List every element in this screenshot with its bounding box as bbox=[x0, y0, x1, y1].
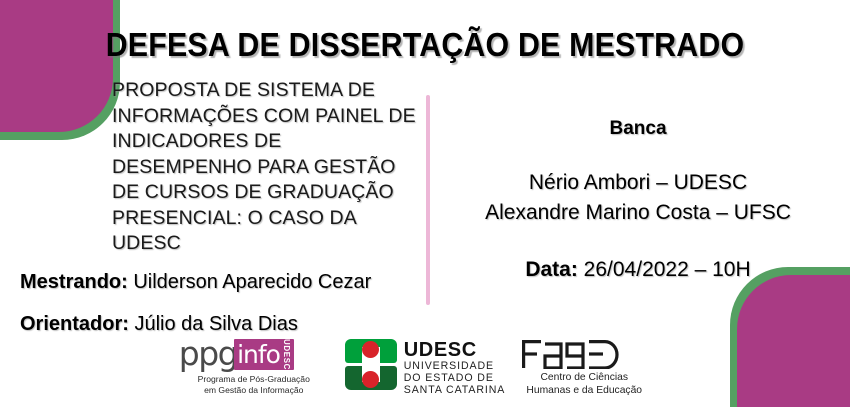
udesc-emblem-icon bbox=[345, 339, 397, 391]
ppg-lettering: ppg bbox=[179, 339, 237, 369]
banca-member-list: Nério Ambori – UDESC Alexandre Marino Co… bbox=[432, 168, 844, 228]
banca-heading: Banca bbox=[432, 118, 844, 140]
ppginfo-subtitle-line-2: em Gestão da Informação bbox=[179, 385, 329, 396]
date-value: 26/04/2022 – 10H bbox=[578, 258, 751, 281]
mestrando-name: Uilderson Aparecido Cezar bbox=[128, 271, 371, 293]
date-line: Data: 26/04/2022 – 10H bbox=[432, 258, 844, 282]
ppginfo-udesc-tag: UDESC bbox=[282, 339, 290, 370]
banca-member: Nério Ambori – UDESC bbox=[432, 168, 844, 198]
orientador-name: Júlio da Silva Dias bbox=[129, 313, 298, 335]
faed-subtitle: Centro de Ciências Humanas e da Educação bbox=[521, 372, 647, 397]
banca-member: Alexandre Marino Costa – UFSC bbox=[432, 198, 844, 228]
faed-logo: Centro de Ciências Humanas e da Educação bbox=[521, 335, 671, 397]
udesc-red-dot-top bbox=[362, 341, 379, 358]
ppginfo-logo: ppg info UDESC Programa de Pós-Graduação… bbox=[179, 335, 329, 399]
udesc-red-dot-bottom bbox=[362, 371, 379, 388]
right-column: Banca Nério Ambori – UDESC Alexandre Mar… bbox=[432, 118, 844, 282]
info-badge: info UDESC bbox=[234, 339, 294, 370]
mestrando-line: Mestrando: Uilderson Aparecido Cezar bbox=[20, 269, 420, 296]
date-label: Data: bbox=[525, 258, 578, 281]
udesc-sub-line-2: DO ESTADO DE bbox=[404, 372, 505, 384]
orientador-label: Orientador: bbox=[20, 313, 129, 335]
logo-strip: ppg info UDESC Programa de Pós-Graduação… bbox=[0, 335, 850, 401]
ppginfo-subtitle-line-1: Programa de Pós-Graduação bbox=[179, 374, 329, 385]
thesis-title: PROPOSTA DE SISTEMA DE INFORMAÇÕES COM P… bbox=[112, 78, 420, 257]
ppginfo-wordmark: ppg info UDESC bbox=[179, 337, 329, 371]
udesc-sub-line-3: SANTA CATARINA bbox=[404, 384, 505, 396]
udesc-name: UDESC bbox=[404, 340, 505, 360]
udesc-wordmark: UDESC UNIVERSIDADE DO ESTADO DE SANTA CA… bbox=[404, 339, 505, 397]
udesc-logo: UDESC UNIVERSIDADE DO ESTADO DE SANTA CA… bbox=[345, 335, 505, 397]
info-lettering: info bbox=[237, 342, 280, 367]
faed-wordmark-icon bbox=[521, 339, 647, 369]
presentation-slide: DEFESA DE DISSERTAÇÃO DE MESTRADO PROPOS… bbox=[0, 0, 850, 407]
udesc-sub-line-1: UNIVERSIDADE bbox=[404, 360, 505, 372]
mestrando-label: Mestrando: bbox=[20, 271, 128, 293]
column-divider bbox=[426, 95, 430, 305]
ppginfo-subtitle: Programa de Pós-Graduação em Gestão da I… bbox=[179, 374, 329, 395]
left-column: PROPOSTA DE SISTEMA DE INFORMAÇÕES COM P… bbox=[20, 78, 420, 338]
faed-subtitle-line-1: Centro de Ciências bbox=[521, 372, 647, 385]
faed-subtitle-line-2: Humanas e da Educação bbox=[521, 385, 647, 398]
slide-title: DEFESA DE DISSERTAÇÃO DE MESTRADO bbox=[34, 26, 816, 64]
